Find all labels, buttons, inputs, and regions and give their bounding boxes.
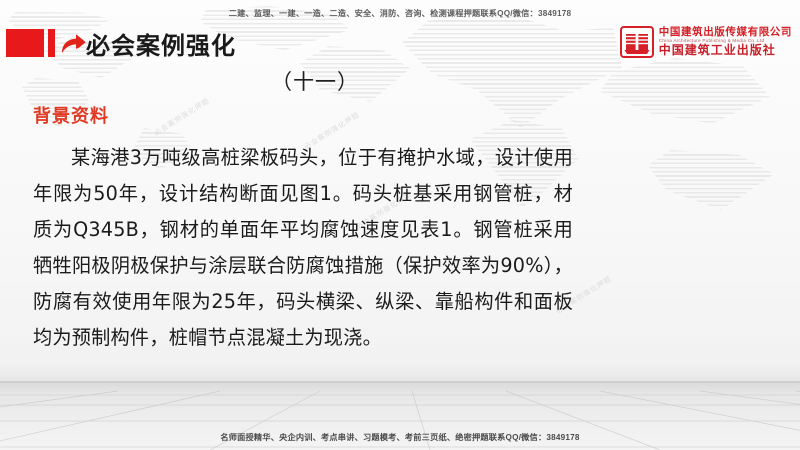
bottom-promo-note: 名师面授精华、央企内训、考点串讲、习题模考、考前三页纸、绝密押题联系QQ/微信：… <box>0 431 800 443</box>
publisher-logo: 中国建筑出版传媒有限公司 China Architecture Publishi… <box>620 26 792 58</box>
open-book-emblem-icon <box>620 26 654 58</box>
background-paragraph: 某海港3万吨级高桩梁板码头，位于有掩护水域，设计使用年限为50年，设计结构断面见… <box>33 140 573 356</box>
wall-floor-shadow <box>0 362 800 382</box>
curved-double-arrow-right-icon <box>60 32 86 56</box>
diagonal-watermark-text: 必会案例强化押题 <box>152 96 212 138</box>
red-block-large-icon <box>6 29 44 57</box>
section-heading: 背景资料 <box>33 102 109 128</box>
top-promo-note: 二建、监理、一建、一造、二造、安全、消防、咨询、检测课程押题联系QQ/微信：38… <box>0 7 800 19</box>
logo-press-name: 中国建筑工业出版社 <box>659 44 792 57</box>
slide-canvas: 必会案例强化押题 必会案例强化押题 必会案例强化押题 必会案例强化押题 二建、监… <box>0 0 800 450</box>
page-title: 必会案例强化 <box>86 26 236 61</box>
red-block-small-icon <box>48 29 55 57</box>
section-number: （十一） <box>0 66 630 96</box>
logo-company-cn: 中国建筑出版传媒有限公司 <box>659 27 792 38</box>
